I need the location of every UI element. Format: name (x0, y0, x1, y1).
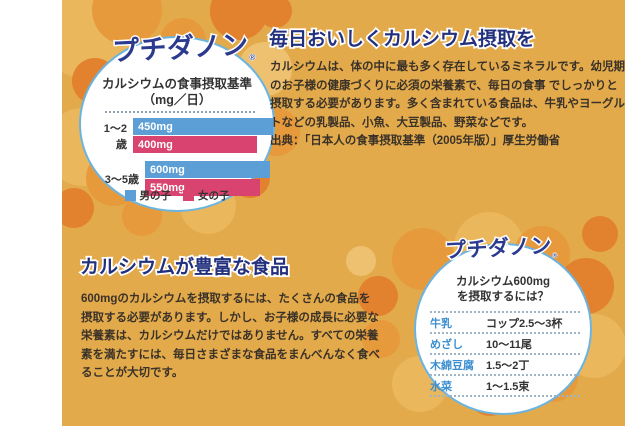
poster-root: カルシウムの食事摂取基準 （mg／日） 1〜2歳 450mg 400mg (0, 0, 640, 426)
bar-boy-age-1-2: 450mg (133, 118, 273, 135)
foods-title-line2: を摂取するには？ (457, 291, 549, 303)
food-name: 牛乳 (430, 315, 486, 331)
chart-group-label: 1〜2歳 (93, 120, 133, 152)
bar-value-label: 600mg (150, 164, 185, 176)
chart-title-line2: （mg／日） (81, 92, 273, 108)
petit-danone-logo: プチダノン® (444, 229, 557, 265)
legend-label-boys: 男の子 (140, 188, 172, 203)
chart-group-label: 3〜5歳 (93, 171, 145, 187)
registered-mark-icon: ® (552, 252, 557, 259)
paragraph-text: カルシウムは、体の中に最も多く存在しているミネラルです。幼児期のお子様の健康づく… (270, 61, 625, 129)
source-citation: 出典：「日本人の食事摂取基準（2005年版）」厚生労働省 (270, 132, 625, 151)
paragraph-calcium-rich-foods: 600mgのカルシウムを摂取するには、たくさんの食品を摂取する必要があります。し… (81, 290, 381, 383)
registered-mark-icon: ® (249, 53, 256, 62)
paragraph-daily-calcium: カルシウムは、体の中に最も多く存在しているミネラルです。幼児期のお子様の健康づく… (270, 58, 625, 151)
food-amount: 1.5〜2丁 (486, 357, 580, 373)
bar-value-label: 400mg (138, 139, 173, 151)
legend-swatch-boys (125, 190, 136, 201)
legend-item-boys: 男の子 (125, 188, 172, 203)
chart-divider (105, 111, 255, 113)
chart-legend: 男の子 女の子 (81, 188, 273, 203)
logo-text: プチダノン (445, 234, 553, 263)
legend-item-girls: 女の子 (183, 188, 230, 203)
chart-title: カルシウムの食事摂取基準 （mg／日） (81, 76, 273, 108)
legend-label-girls: 女の子 (198, 188, 230, 203)
food-name: 水菜 (430, 378, 486, 394)
food-name: 木綿豆腐 (430, 357, 486, 373)
foods-title-line1: カルシウム600mg (456, 276, 550, 288)
food-name: めざし (430, 336, 486, 352)
bar-girl-age-1-2: 400mg (133, 136, 257, 153)
food-amount: 1〜1.5束 (486, 378, 580, 394)
food-amount: 10〜11尾 (486, 336, 580, 352)
table-row: 牛乳 コップ2.5〜3杯 (430, 311, 580, 332)
foods-card-title: カルシウム600mg を摂取するには？ (416, 275, 590, 305)
headline-calcium-rich-foods: カルシウムが豊富な食品 (80, 252, 289, 279)
calcium-foods-card: カルシウム600mg を摂取するには？ 牛乳 コップ2.5〜3杯 めざし 10〜… (414, 243, 592, 415)
table-row: めざし 10〜11尾 (430, 332, 580, 353)
food-amount: コップ2.5〜3杯 (486, 315, 580, 331)
bubble-decoration (346, 246, 376, 276)
orange-background-panel: カルシウムの食事摂取基準 （mg／日） 1〜2歳 450mg 400mg (62, 0, 625, 426)
logo-text: プチダノン (111, 30, 249, 67)
chart-group-age-1-2: 1〜2歳 450mg 400mg (93, 118, 273, 154)
table-row: 水菜 1〜1.5束 (430, 374, 580, 397)
headline-daily-calcium: 毎日おいしくカルシウム摂取を (269, 24, 535, 51)
legend-swatch-girls (183, 190, 194, 201)
bar-boy-age-3-5: 600mg (145, 161, 270, 178)
foods-table: 牛乳 コップ2.5〜3杯 めざし 10〜11尾 木綿豆腐 1.5〜2丁 水菜 1… (430, 311, 580, 397)
bar-value-label: 450mg (138, 121, 173, 133)
petit-danone-logo: プチダノン® (111, 22, 256, 69)
chart-title-line1: カルシウムの食事摂取基準 (102, 77, 252, 91)
table-row: 木綿豆腐 1.5〜2丁 (430, 353, 580, 374)
